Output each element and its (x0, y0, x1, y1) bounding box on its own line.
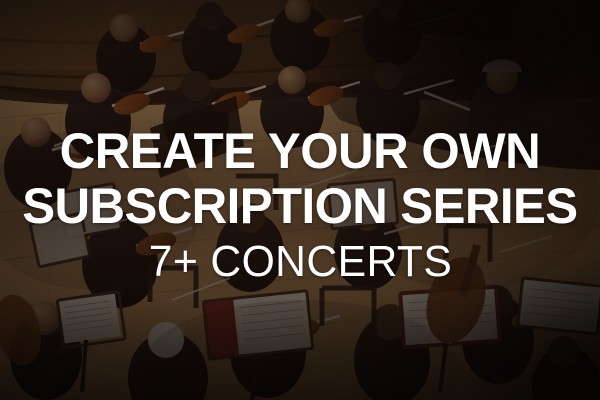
orchestra-background-image (0, 0, 600, 400)
promo-banner: CREATE YOUR OWN SUBSCRIPTION SERIES 7+ C… (0, 0, 600, 400)
